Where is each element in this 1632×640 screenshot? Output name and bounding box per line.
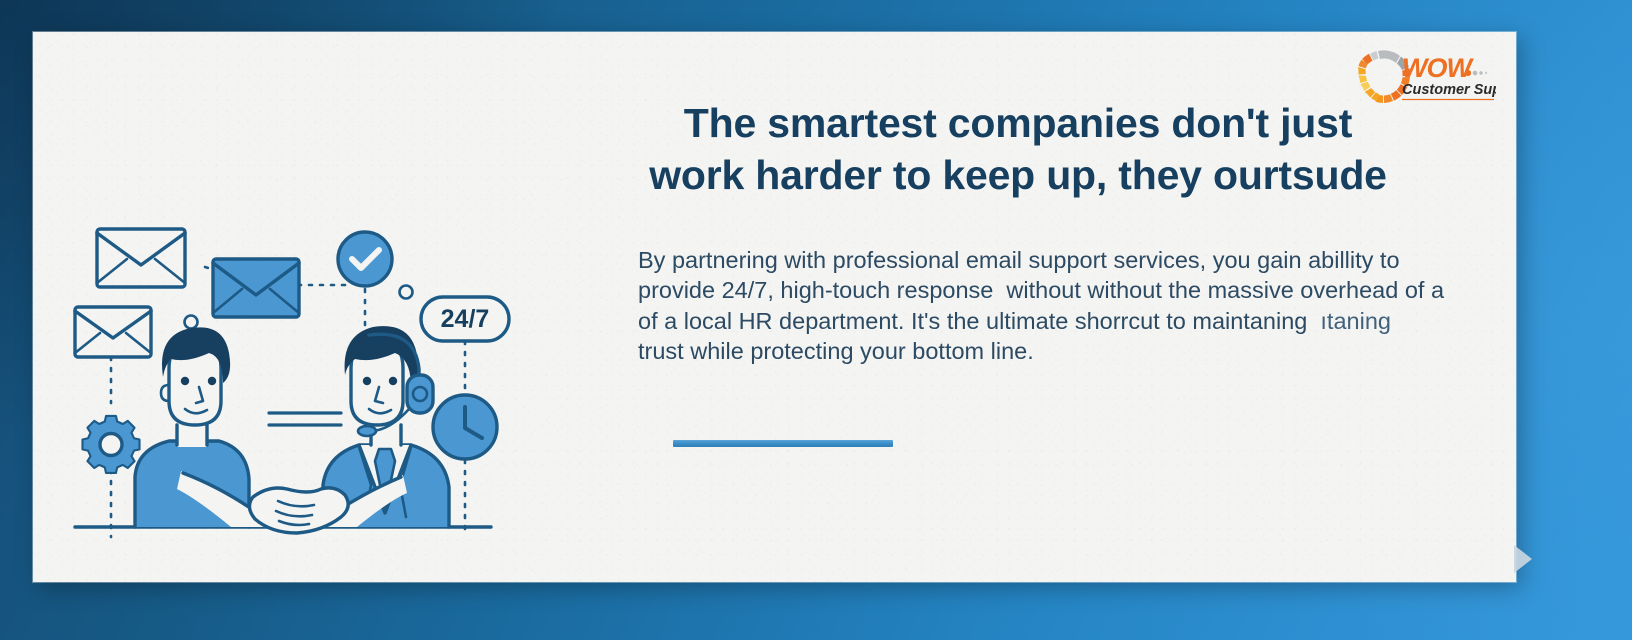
badge-24-7-label: 24/7 [441, 305, 490, 333]
clock-icon [433, 395, 497, 459]
headline-line-1: The smartest companies don't just [608, 97, 1428, 149]
headline-line-2: work harder to keep up, they ourtsude [608, 149, 1428, 201]
svg-text:WOW: WOW [1402, 53, 1474, 83]
slide-card: WOW Customer Support .ln { fill:none; st… [33, 32, 1516, 582]
next-slide-arrow-icon[interactable] [1512, 543, 1534, 575]
dot-small-mid [400, 286, 413, 299]
envelope-outline-left-icon [75, 307, 151, 357]
slide-stage: WOW Customer Support .ln { fill:none; st… [0, 0, 1632, 640]
body-line-1: By partnering with professional email su… [638, 245, 1428, 275]
center-divider-lines [269, 413, 341, 425]
badge-24-7: 24/7 [421, 297, 509, 341]
text-column: The smartest companies don't just work h… [608, 97, 1428, 366]
body-line-3-text: of a local HR department. It's the ultim… [638, 308, 1307, 334]
body-line-4: trust while protecting your bottom line. [638, 336, 1428, 366]
body-line-2: provide 24/7, high-touch response withou… [638, 275, 1428, 305]
accent-underline [673, 440, 893, 447]
body-paragraph: By partnering with professional email su… [608, 245, 1428, 366]
page-title: The smartest companies don't just work h… [608, 97, 1428, 201]
gear-icon [82, 416, 139, 473]
check-badge-icon [338, 232, 392, 286]
envelope-outline-top-icon [97, 229, 185, 287]
dot-small-left [185, 316, 198, 329]
logo-wordmark: WOW [1402, 53, 1487, 83]
svg-text:Customer Support: Customer Support [1402, 82, 1496, 98]
email-support-illustration: .ln { fill:none; stroke:#1E5A86; stroke-… [73, 217, 593, 562]
envelope-filled-icon [213, 259, 299, 317]
body-line-3: of a local HR department. It's the ultim… [638, 306, 1428, 336]
logo-tagline: Customer Support [1402, 82, 1496, 98]
body-line-3-ghost: ıtaning [1307, 308, 1391, 334]
